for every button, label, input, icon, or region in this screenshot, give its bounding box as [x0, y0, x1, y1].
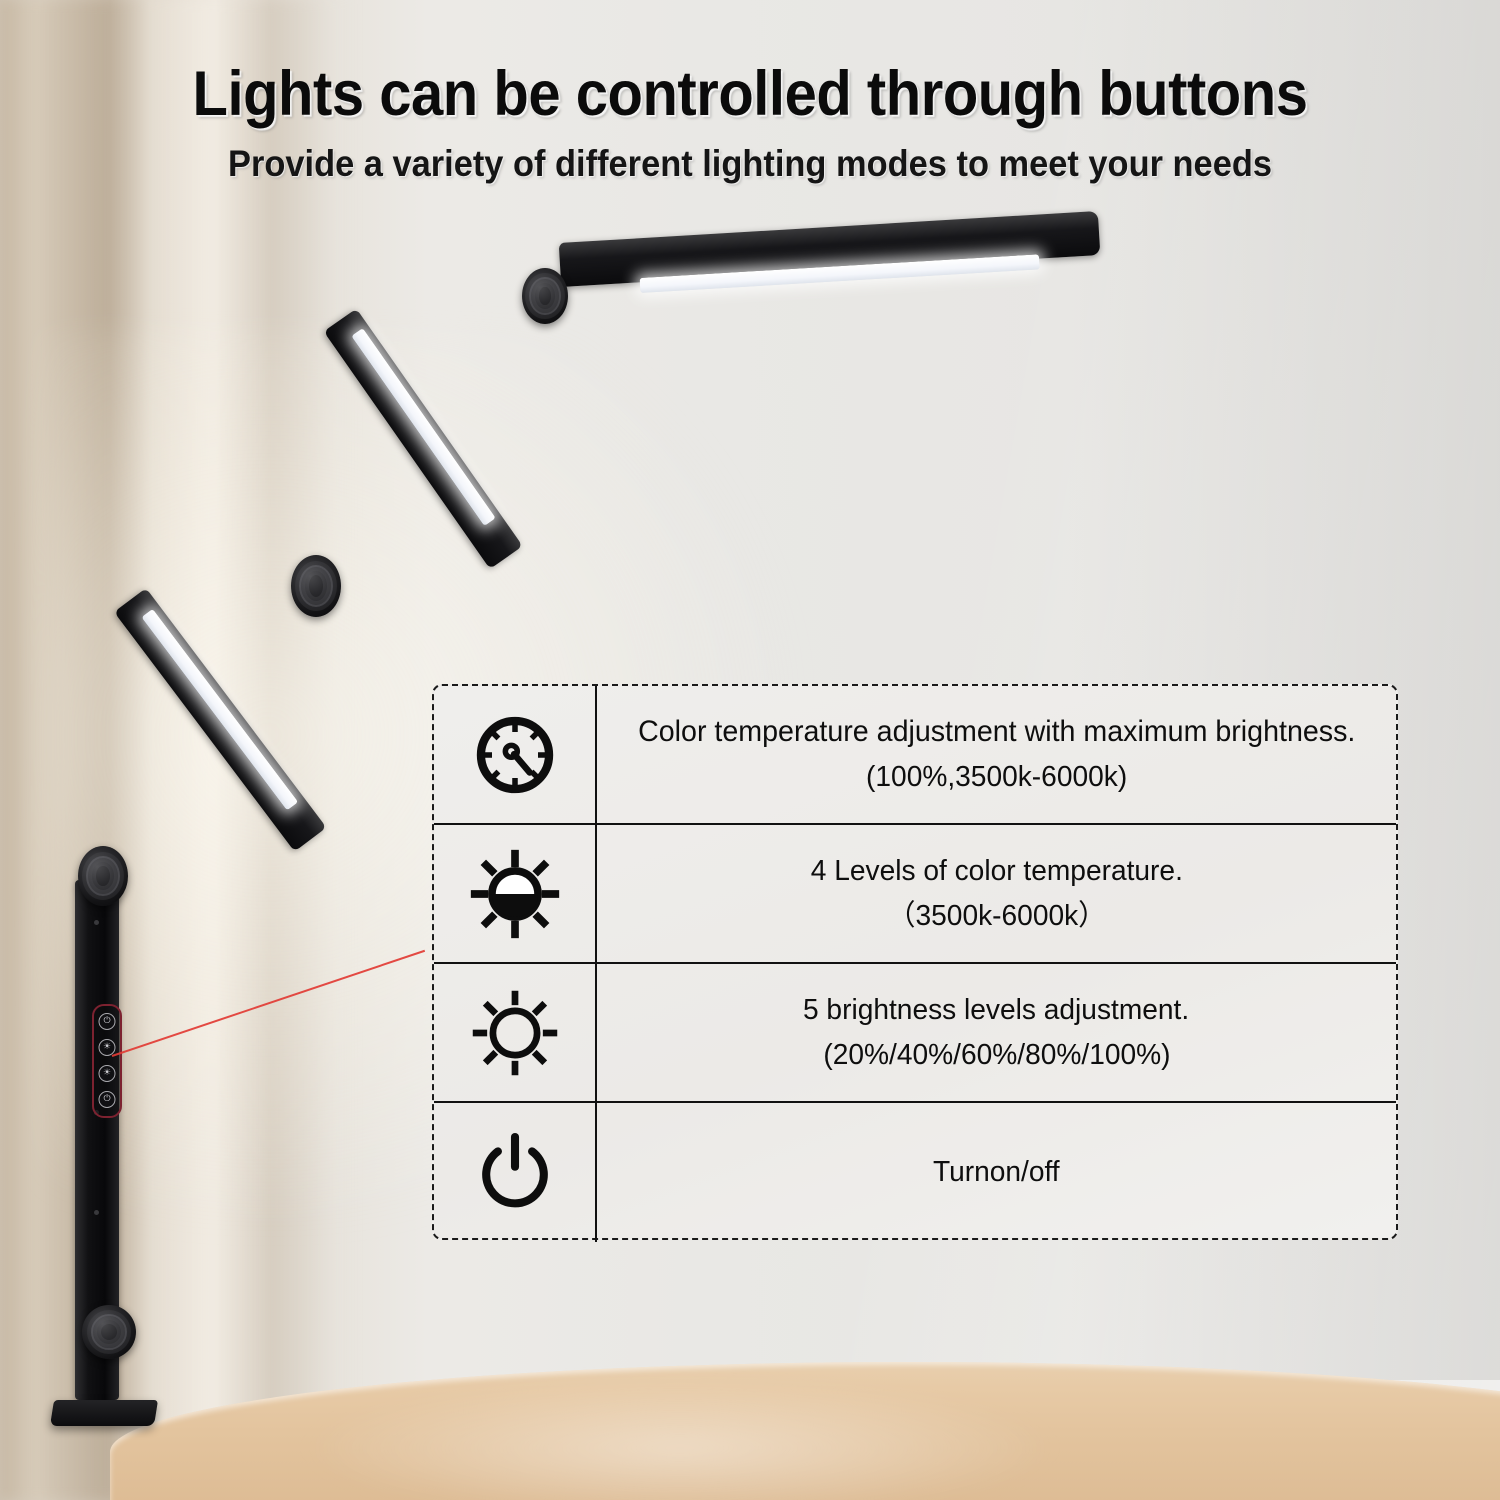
feature-line-secondary: (100%,3500k-6000k)	[866, 755, 1127, 800]
table-row: Color temperature adjustment with maximu…	[434, 686, 1396, 825]
feature-icon-cell	[434, 964, 597, 1101]
page-subtitle: Provide a variety of different lighting …	[53, 143, 1448, 185]
lamp-joint-knob-head[interactable]	[522, 268, 568, 324]
power-button[interactable]: ⏻	[99, 1013, 116, 1030]
lamp-joint-knob-lower[interactable]	[78, 846, 128, 906]
feature-text-cell: 4 Levels of color temperature. （3500k-60…	[597, 825, 1396, 962]
post-screw	[94, 920, 99, 925]
table-row: 4 Levels of color temperature. （3500k-60…	[434, 825, 1396, 964]
table-row: 5 brightness levels adjustment. (20%/40%…	[434, 964, 1396, 1103]
feature-table: Color temperature adjustment with maximu…	[432, 684, 1398, 1240]
feature-icon-cell	[434, 825, 597, 962]
mode-button[interactable]: ⏻	[99, 1091, 116, 1108]
feature-line-primary: 4 Levels of color temperature.	[810, 849, 1182, 894]
feature-line-secondary: （3500k-6000k）	[887, 894, 1106, 939]
feature-line-primary: 5 brightness levels adjustment.	[803, 988, 1189, 1033]
lamp-joint-knob-base[interactable]	[82, 1305, 136, 1359]
lamp-upper-arm-led-strip	[351, 328, 496, 526]
callout-leader-line	[112, 950, 425, 1057]
feature-text-cell: Color temperature adjustment with maximu…	[597, 686, 1396, 823]
lamp-control-panel[interactable]: ⏻ ☀ ☀ ⏻	[92, 1004, 122, 1118]
feature-line-primary: Color temperature adjustment with maximu…	[638, 709, 1355, 755]
lamp-clamp-mount	[50, 1400, 158, 1426]
post-screw	[94, 1210, 99, 1215]
half-filled-sun-icon	[467, 846, 563, 942]
lamp-joint-knob-middle[interactable]	[291, 555, 341, 617]
table-row: Turnon/off	[434, 1103, 1396, 1242]
feature-icon-cell	[434, 686, 597, 823]
dial-gauge-icon	[469, 709, 561, 801]
power-icon	[470, 1128, 560, 1218]
brightness-button[interactable]: ☀	[99, 1065, 116, 1082]
feature-line-secondary: (20%/40%/60%/80%/100%)	[823, 1033, 1170, 1078]
feature-text-cell: Turnon/off	[597, 1103, 1396, 1242]
page-title: Lights can be controlled through buttons	[60, 58, 1440, 130]
feature-text-cell: 5 brightness levels adjustment. (20%/40%…	[597, 964, 1396, 1101]
product-feature-image: ⏻ ☀ ☀ ⏻ Lights can be controlled through…	[0, 0, 1500, 1500]
feature-icon-cell	[434, 1103, 597, 1242]
feature-line-primary: Turnon/off	[933, 1150, 1060, 1195]
lamp-middle-arm-led-strip	[141, 609, 298, 811]
sun-outline-icon	[467, 985, 563, 1081]
